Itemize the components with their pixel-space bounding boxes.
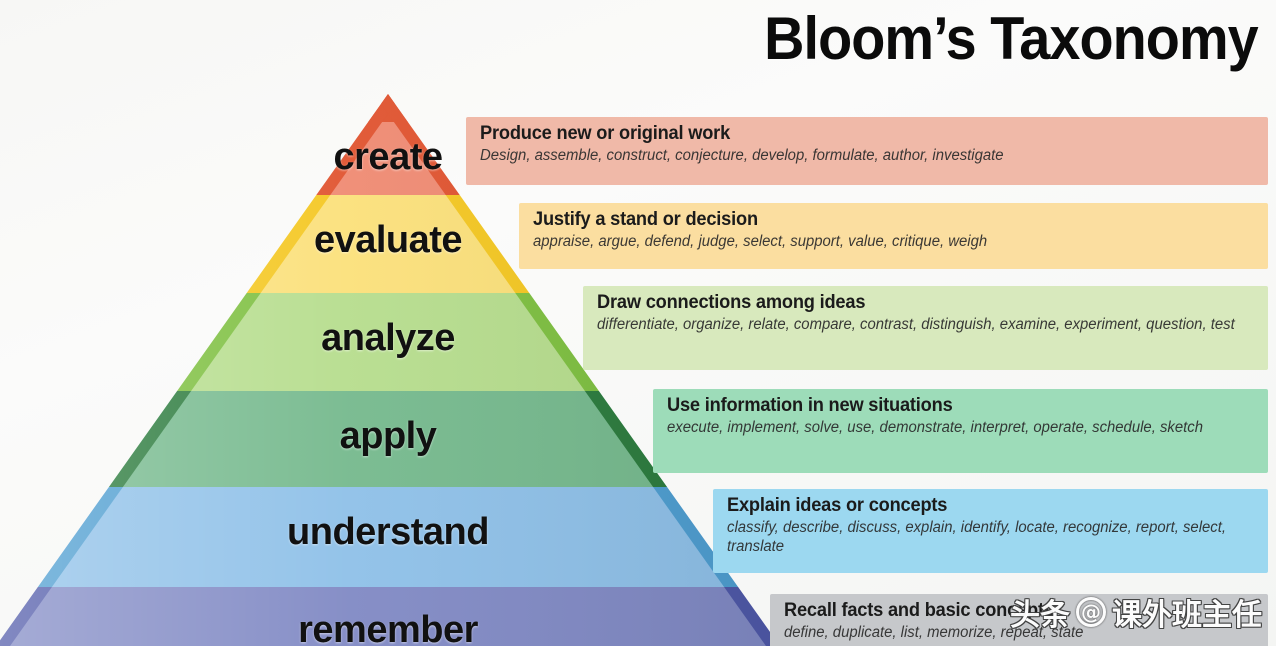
pyramid-label-apply: apply	[340, 415, 437, 458]
description-head-create: Produce new or original work	[480, 123, 1236, 145]
description-box-create: Produce new or original work Design, ass…	[466, 117, 1268, 185]
pyramid-label-evaluate: evaluate	[314, 219, 462, 262]
description-verbs-create: Design, assemble, construct, conjecture,…	[480, 147, 1236, 166]
description-verbs-analyze: differentiate, organize, relate, compare…	[597, 316, 1241, 335]
pyramid-label-understand: understand	[287, 511, 489, 554]
bloom-taxonomy-infographic: Bloom’s Taxonomy	[0, 0, 1276, 646]
pyramid-label-analyze: analyze	[321, 317, 455, 360]
pyramid-label-remember: remember	[298, 609, 478, 646]
description-head-analyze: Draw connections among ideas	[597, 292, 1241, 314]
description-head-apply: Use information in new situations	[667, 395, 1244, 417]
description-head-evaluate: Justify a stand or decision	[533, 209, 1239, 231]
description-verbs-evaluate: appraise, argue, defend, judge, select, …	[533, 233, 1239, 252]
description-box-understand: Explain ideas or concepts classify, desc…	[713, 489, 1268, 573]
watermark-handle: 课外班主任	[1112, 590, 1262, 634]
watermark-brand: 头条	[1010, 590, 1070, 634]
description-box-evaluate: Justify a stand or decision appraise, ar…	[519, 203, 1268, 269]
pyramid-label-create: create	[334, 136, 443, 179]
description-verbs-apply: execute, implement, solve, use, demonstr…	[667, 419, 1244, 438]
page-title: Bloom’s Taxonomy	[764, 4, 1258, 73]
watermark: 头条 @ 课外班主任	[1010, 590, 1262, 634]
description-head-understand: Explain ideas or concepts	[727, 495, 1246, 517]
at-sign-icon: @	[1076, 597, 1106, 627]
description-verbs-understand: classify, describe, discuss, explain, id…	[727, 519, 1246, 557]
description-box-analyze: Draw connections among ideas differentia…	[583, 286, 1268, 370]
description-box-apply: Use information in new situations execut…	[653, 389, 1268, 473]
